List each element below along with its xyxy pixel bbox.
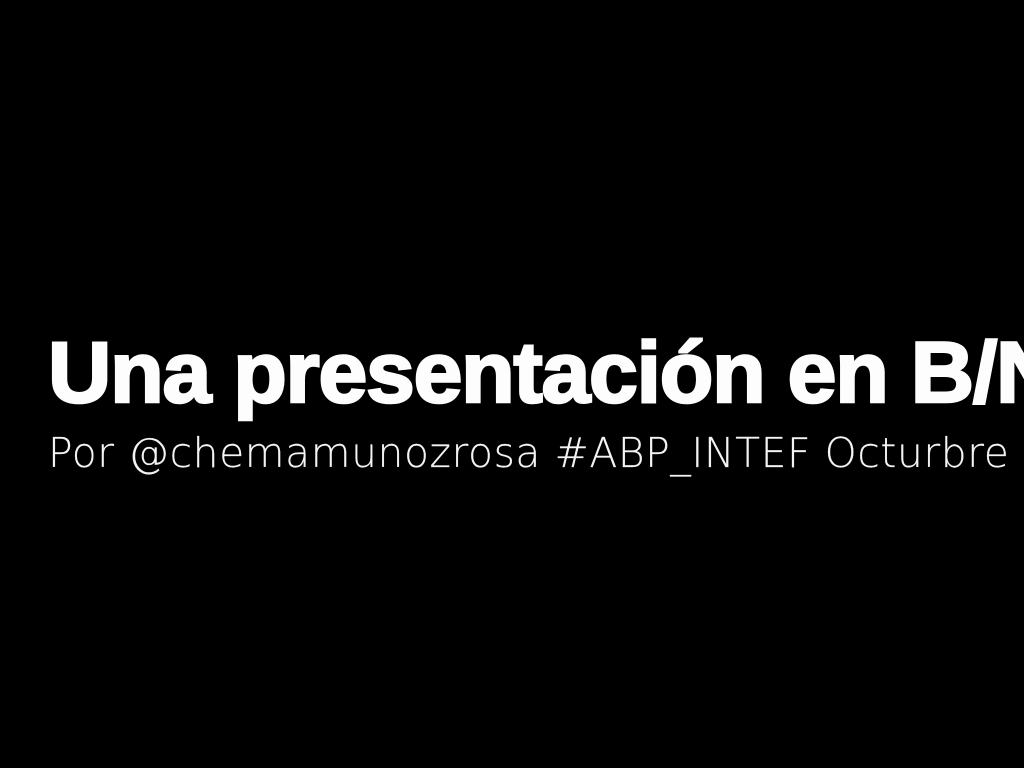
slide-text-block: Una presentación en B/N Por @chemamunozr…: [48, 330, 988, 475]
slide-subtitle: Por @chemamunozrosa #ABP_INTEF Octurbre …: [48, 431, 983, 475]
presentation-slide: Una presentación en B/N Por @chemamunozr…: [0, 0, 1024, 768]
slide-title: Una presentación en B/N: [48, 330, 1007, 416]
